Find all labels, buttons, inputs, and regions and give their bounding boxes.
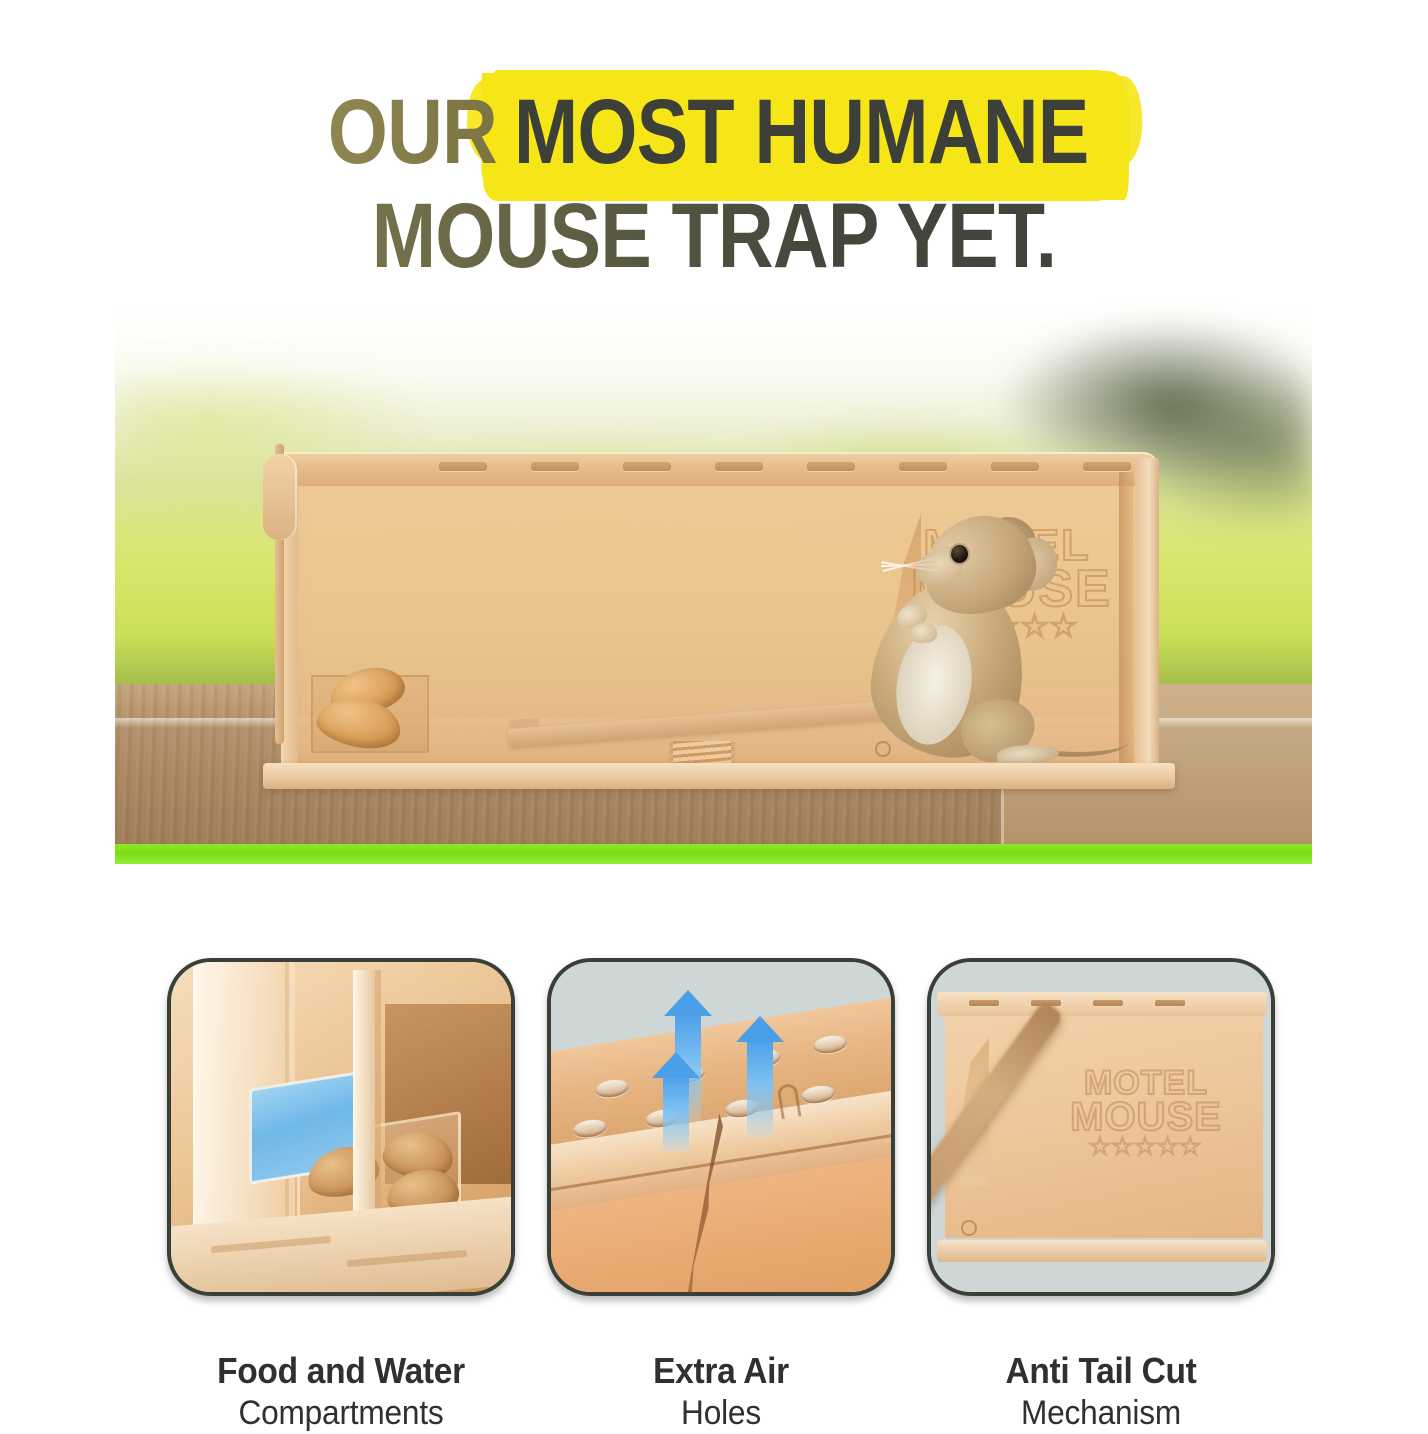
air-vent-slot (531, 462, 579, 471)
feature-title: Anti Tail Cut (939, 1350, 1263, 1392)
card3-brand-stars: ★★★★★ (1089, 1133, 1202, 1159)
card3-bottom-rail (937, 1240, 1267, 1262)
trap-hinge-latch (263, 454, 297, 540)
feature-card-food-and-water[interactable] (167, 958, 515, 1296)
hero-product-photo: MOTEL MOUSE ★★★★★ (115, 300, 1312, 878)
headline-line-1: OURMOST HUMANE (114, 84, 1314, 180)
card3-screw (961, 1220, 977, 1236)
feature-label-extra-air: Extra Air Holes (547, 1350, 895, 1434)
headline-line-2: MOUSE TRAP YET. (114, 188, 1314, 284)
air-vent-slot (807, 462, 855, 471)
air-vent-slot (623, 462, 671, 471)
air-vent-slot (439, 462, 487, 471)
feature-title: Food and Water (179, 1350, 503, 1392)
mouse-eye (951, 545, 968, 563)
trap-right-post (1135, 458, 1159, 776)
card3-brand-emboss: MOTEL MOUSE ★★★★★ (1051, 1068, 1241, 1158)
hero-bottom-fade (115, 864, 1312, 878)
headline-highlighted-text: MOST HUMANE (502, 84, 1100, 180)
air-vent-slot (899, 462, 947, 471)
feature-labels-row: Food and Water Compartments Extra Air Ho… (155, 1350, 1283, 1428)
feature-title: Extra Air (559, 1350, 883, 1392)
air-vent-slot (715, 462, 763, 471)
headline-block: OURMOST HUMANE MOUSE TRAP YET. (0, 84, 1428, 284)
feature-cards-row: MOTEL MOUSE ★★★★★ (155, 958, 1283, 1303)
airflow-arrow (747, 1038, 773, 1138)
headline-plain-text: OUR (328, 84, 497, 180)
card3-air-vent (969, 1000, 999, 1006)
card3-air-vent (1155, 1000, 1185, 1006)
trap-base-rail (263, 763, 1175, 789)
trap-door (1119, 472, 1133, 768)
feature-card-extra-air[interactable] (547, 958, 895, 1296)
green-accent-stripe (115, 844, 1312, 864)
headline-highlight-label: MOST HUMANE (514, 81, 1089, 183)
air-vent-slot (991, 462, 1039, 471)
feature-label-food-and-water: Food and Water Compartments (167, 1350, 515, 1434)
feature-card-anti-tail-cut[interactable]: MOTEL MOUSE ★★★★★ (927, 958, 1275, 1296)
air-vent-slot (1083, 462, 1131, 471)
card3-brand-line-2: MOUSE (1051, 1099, 1241, 1136)
mouse (811, 511, 1111, 763)
card3-air-vent (1093, 1000, 1123, 1006)
feature-label-anti-tail-cut: Anti Tail Cut Mechanism (927, 1350, 1275, 1434)
humane-mouse-trap: MOTEL MOUSE ★★★★★ (263, 448, 1175, 793)
airflow-arrow (663, 1074, 689, 1152)
